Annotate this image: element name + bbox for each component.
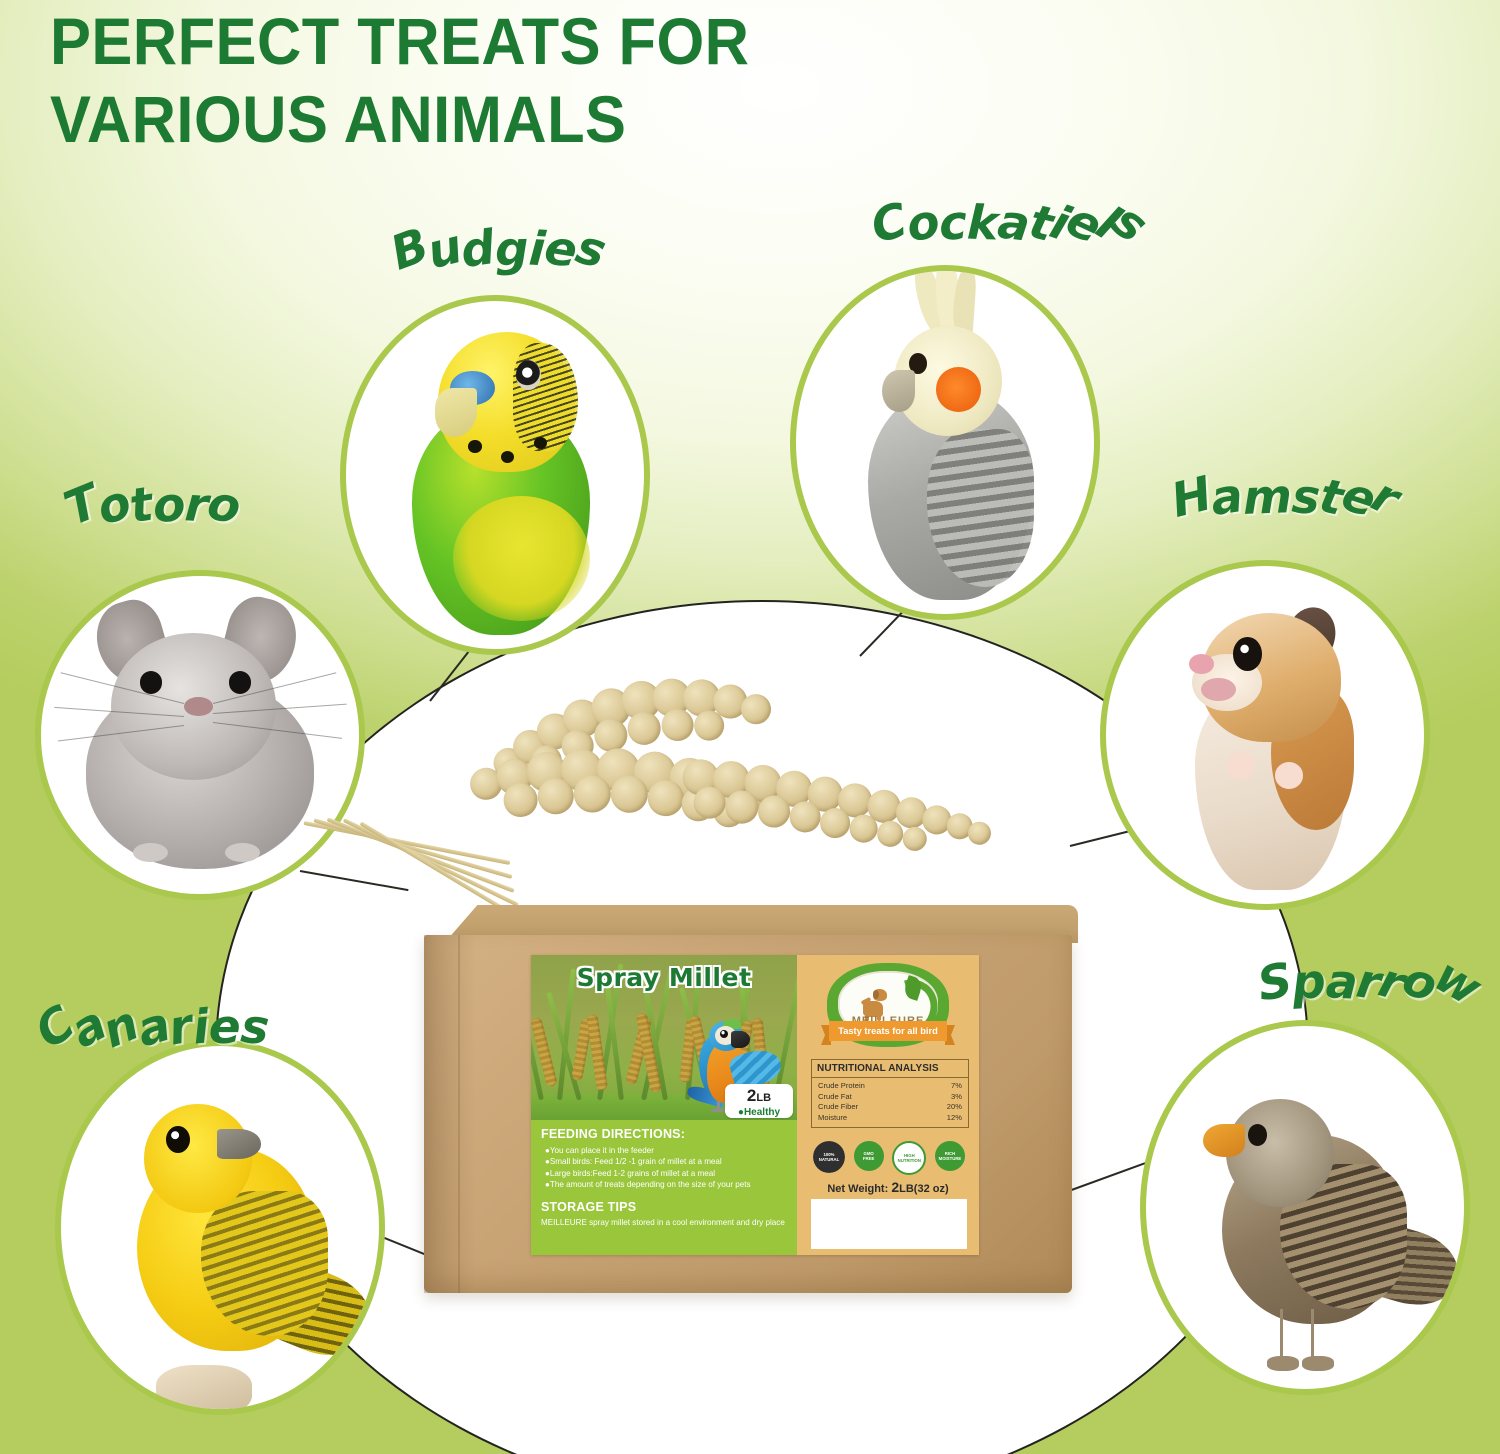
brand-ribbon: Tasty treats for all bird (829, 1021, 947, 1041)
product-title: Spray Millet (531, 963, 797, 992)
table-row: Crude Protein 7% (818, 1081, 962, 1092)
seal-gmo-free-icon: GMOFREE (854, 1141, 884, 1171)
feeding-item: ●Large birds:Feed 1-2 grains of millet a… (545, 1168, 791, 1179)
table-row: Moisture 12% (818, 1113, 962, 1124)
nutrition-value: 12% (947, 1113, 962, 1124)
cockatiel-photo (796, 271, 1094, 614)
animal-label-sparrow: Sparrow (1258, 955, 1479, 1010)
title-line-1: PERFECT TREATS FOR (50, 2, 1073, 80)
feeding-item: ●Small birds: Feed 1/2 -1 grain of mille… (545, 1156, 791, 1167)
seal-rich-moisture-icon: RICHMOISTURE (935, 1141, 965, 1171)
animal-label-hamster: Hamster (1172, 470, 1398, 525)
animal-circle-canary[interactable] (55, 1040, 385, 1415)
storage-text: MEILLEURE spray millet stored in a cool … (541, 1217, 791, 1228)
animal-circle-hamster[interactable] (1100, 560, 1430, 910)
seal-high-nutrition-icon: HIGHNUTRITION (892, 1141, 926, 1175)
weight-healthy: ●Healthy (725, 1107, 793, 1118)
nutrition-rows: Crude Protein 7% Crude Fat 3% Crude Fibe… (812, 1078, 968, 1127)
feeding-heading: FEEDING DIRECTIONS: (541, 1127, 791, 1141)
table-row: Crude Fat 3% (818, 1092, 962, 1103)
certification-seals: 100%NATURAL GMOFREE HIGHNUTRITION RICHMO… (813, 1141, 965, 1175)
product-label: Spray Millet (531, 955, 979, 1255)
animal-label-cockatiel: Cockatiels (872, 196, 1144, 251)
storage-tips: STORAGE TIPS MEILLEURE spray millet stor… (541, 1200, 791, 1228)
infographic-canvas: PERFECT TREATS FOR VARIOUS ANIMALS Budgi… (0, 0, 1500, 1454)
table-row: Crude Fiber 20% (818, 1102, 962, 1113)
animal-label-budgie: Budgies (392, 222, 605, 277)
canary-photo (61, 1046, 379, 1409)
storage-heading: STORAGE TIPS (541, 1200, 791, 1214)
feeding-list: ●You can place it in the feeder ●Small b… (541, 1145, 791, 1191)
sparrow-photo (1146, 1026, 1464, 1389)
millet-spray-right (674, 728, 1046, 891)
nutrition-value: 7% (951, 1081, 962, 1092)
nutrition-name: Crude Protein (818, 1081, 865, 1092)
blank-white-area (811, 1199, 967, 1249)
animal-circle-cockatiel[interactable] (790, 265, 1100, 620)
millet-field-photo: Spray Millet (531, 955, 797, 1120)
nutrition-title: NUTRITIONAL ANALYSIS (812, 1060, 968, 1078)
feeding-item: ●The amount of treats depending on the s… (545, 1179, 791, 1190)
animal-label-chinchilla: Totoro (66, 478, 241, 533)
feeding-item: ●You can place it in the feeder (545, 1145, 791, 1156)
nutrition-table: NUTRITIONAL ANALYSIS Crude Protein 7% Cr… (811, 1059, 969, 1128)
brand-tagline: Tasty treats for all bird (838, 1026, 938, 1036)
nutrition-name: Moisture (818, 1113, 847, 1124)
animal-circle-sparrow[interactable] (1140, 1020, 1470, 1395)
label-right-panel: MEILLEURE Tasty treats for all bird NUTR… (797, 955, 979, 1255)
nutrition-name: Crude Fiber (818, 1102, 858, 1113)
nutrition-value: 3% (951, 1092, 962, 1103)
box-seam (458, 935, 460, 1293)
animal-label-canary: Canaries (38, 1000, 269, 1055)
net-weight: Net Weight: 2LB(32 oz) (797, 1179, 979, 1195)
page-title: PERFECT TREATS FOR VARIOUS ANIMALS (50, 2, 1073, 158)
nutrition-name: Crude Fat (818, 1092, 852, 1103)
weight-amount: 2LB (725, 1084, 793, 1107)
net-weight-amount: 2 (891, 1179, 899, 1195)
animal-circle-budgie[interactable] (340, 295, 650, 655)
net-weight-unit: LB(32 oz) (899, 1183, 949, 1195)
box-left-edge-shading (424, 935, 476, 1293)
title-line-2: VARIOUS ANIMALS (50, 80, 1073, 158)
nutrition-value: 20% (947, 1102, 962, 1113)
hamster-photo (1106, 566, 1424, 904)
label-left-panel: Spray Millet (531, 955, 797, 1255)
net-weight-prefix: Net Weight: (827, 1183, 888, 1195)
brand-logo: MEILLEURE Tasty treats for all bird (827, 963, 949, 1047)
feeding-directions: FEEDING DIRECTIONS: ●You can place it in… (541, 1127, 791, 1228)
product-box[interactable]: Spray Millet (418, 905, 1078, 1295)
seal-natural-icon: 100%NATURAL (813, 1141, 845, 1173)
weight-badge: 2LB ●Healthy (725, 1084, 793, 1118)
budgie-photo (346, 301, 644, 649)
